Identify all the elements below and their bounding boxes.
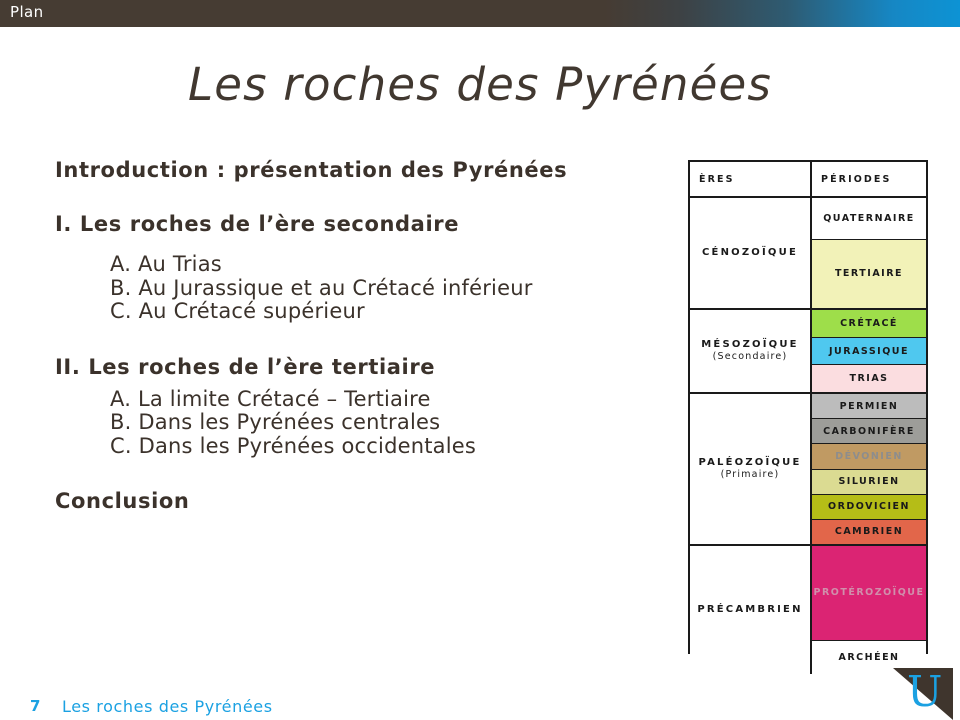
period-column: QUATERNAIRETERTIAIRE — [812, 198, 926, 308]
period-name-label: CRÉTACÉ — [840, 318, 898, 329]
period-cell: CARBONIFÈRE — [812, 419, 926, 444]
period-name-label: CARBONIFÈRE — [823, 426, 915, 437]
era-row: PRÉCAMBRIENPROTÉROZOÏQUEARCHÉEN — [690, 546, 926, 674]
period-cell: DÉVONIEN — [812, 444, 926, 469]
period-cell: PROTÉROZOÏQUE — [812, 546, 926, 641]
period-cell: SILURIEN — [812, 470, 926, 495]
logo-letter-u-icon: U — [907, 671, 942, 713]
table-header-periods-label: PÉRIODES — [821, 174, 891, 185]
era-name-cell: MÉSOZOÏQUE(Secondaire) — [690, 310, 812, 392]
era-row: CÉNOZOÏQUEQUATERNAIRETERTIAIRE — [690, 198, 926, 310]
period-name-label: TRIAS — [849, 373, 888, 384]
era-name-label: PRÉCAMBRIEN — [697, 603, 802, 617]
period-name-label: ARCHÉEN — [838, 652, 899, 663]
outline-intro: Introduction : présentation des Pyrénées — [55, 160, 675, 181]
period-name-label: SILURIEN — [838, 476, 899, 487]
outline-section-2-item-c: C. Dans les Pyrénées occidentales — [110, 435, 675, 459]
period-cell: JURASSIQUE — [812, 338, 926, 366]
top-bar: Plan — [0, 0, 960, 27]
table-header-row: ÈRES PÉRIODES — [690, 162, 926, 198]
era-subtitle-label: (Primaire) — [721, 469, 780, 482]
period-cell: CRÉTACÉ — [812, 310, 926, 338]
period-column: CRÉTACÉJURASSIQUETRIAS — [812, 310, 926, 392]
outline-section-1-heading: I. Les roches de l’ère secondaire — [55, 214, 675, 235]
period-name-label: CAMBRIEN — [835, 526, 903, 537]
period-name-label: PERMIEN — [840, 401, 899, 412]
period-cell: TRIAS — [812, 365, 926, 392]
outline-conclusion: Conclusion — [55, 491, 675, 512]
footer-page-number: 7 — [30, 697, 40, 715]
period-cell: CAMBRIEN — [812, 520, 926, 544]
period-name-label: PROTÉROZOÏQUE — [814, 587, 925, 598]
period-name-label: QUATERNAIRE — [823, 213, 915, 224]
outline-section-1-item-b: B. Au Jurassique et au Crétacé inférieur — [110, 277, 675, 301]
top-bar-label: Plan — [10, 3, 44, 21]
era-name-label: CÉNOZOÏQUE — [702, 246, 798, 260]
era-subtitle-label: (Secondaire) — [713, 351, 788, 364]
period-name-label: TERTIAIRE — [835, 268, 903, 279]
period-name-label: DÉVONIEN — [835, 451, 903, 462]
period-column: PERMIENCARBONIFÈREDÉVONIENSILURIENORDOVI… — [812, 394, 926, 544]
outline-content: Introduction : présentation des Pyrénées… — [55, 160, 675, 512]
period-cell: PERMIEN — [812, 394, 926, 419]
period-cell: ORDOVICIEN — [812, 495, 926, 520]
outline-section-1-item-c: C. Au Crétacé supérieur — [110, 300, 675, 324]
era-name-label: PALÉOZOÏQUE — [699, 456, 802, 470]
era-row: MÉSOZOÏQUE(Secondaire)CRÉTACÉJURASSIQUET… — [690, 310, 926, 394]
period-column: PROTÉROZOÏQUEARCHÉEN — [812, 546, 926, 674]
era-row: PALÉOZOÏQUE(Primaire)PERMIENCARBONIFÈRED… — [690, 394, 926, 546]
table-header-eras-cell: ÈRES — [690, 162, 812, 196]
period-name-label: JURASSIQUE — [829, 346, 909, 357]
period-cell: TERTIAIRE — [812, 240, 926, 308]
era-name-cell: PRÉCAMBRIEN — [690, 546, 812, 674]
table-body: CÉNOZOÏQUEQUATERNAIRETERTIAIREMÉSOZOÏQUE… — [690, 198, 926, 674]
outline-section-2-heading: II. Les roches de l’ère tertiaire — [55, 357, 675, 378]
period-cell: QUATERNAIRE — [812, 198, 926, 240]
era-name-label: MÉSOZOÏQUE — [701, 338, 798, 352]
university-logo: U — [893, 668, 953, 720]
geological-time-scale-table: ÈRES PÉRIODES CÉNOZOÏQUEQUATERNAIRETERTI… — [688, 160, 928, 654]
period-name-label: ORDOVICIEN — [828, 501, 910, 512]
outline-section-2-item-b: B. Dans les Pyrénées centrales — [110, 411, 675, 435]
outline-section-2-item-a: A. La limite Crétacé – Tertiaire — [110, 388, 675, 412]
era-name-cell: CÉNOZOÏQUE — [690, 198, 812, 308]
table-header-periods-cell: PÉRIODES — [812, 162, 926, 196]
footer-title: Les roches des Pyrénées — [62, 697, 273, 716]
outline-section-1-item-a: A. Au Trias — [110, 253, 675, 277]
table-header-eras-label: ÈRES — [699, 174, 735, 185]
era-name-cell: PALÉOZOÏQUE(Primaire) — [690, 394, 812, 544]
page-title: Les roches des Pyrénées — [0, 58, 960, 111]
